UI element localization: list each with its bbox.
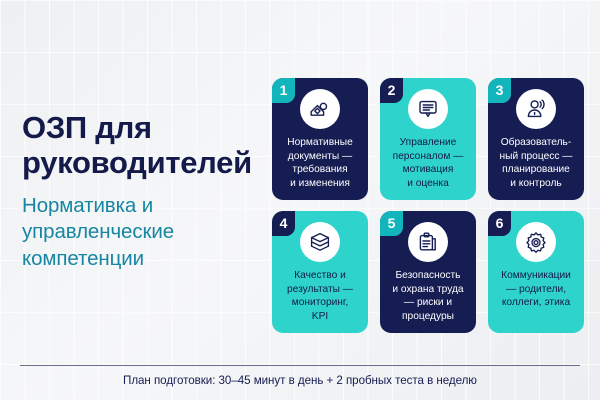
card-label: Образователь- ный процесс — планирование… xyxy=(496,136,577,190)
topic-card-6[interactable]: 6 Коммуникации — родители, коллеги, этик… xyxy=(488,211,584,333)
page-title: ОЗП для руководителей xyxy=(22,110,258,180)
card-label: Нормативные документы — требования и изм… xyxy=(283,136,357,190)
hero-text-block: ОЗП для руководителей Нормативка и управ… xyxy=(22,110,258,272)
topic-card-4[interactable]: 4 Качество и результаты — мониторинг, KP… xyxy=(272,211,368,333)
card-number-badge: 3 xyxy=(488,78,511,103)
card-label: Коммуникации — родители, коллеги, этика xyxy=(497,269,575,310)
topic-card-2[interactable]: 2 Управление персоналом — мотивация и оц… xyxy=(380,78,476,200)
card-number-badge: 2 xyxy=(380,78,403,103)
card-number-badge: 4 xyxy=(272,211,295,236)
card-number-badge: 5 xyxy=(380,211,403,236)
card-number-badge: 1 xyxy=(272,78,295,103)
topic-card-1[interactable]: 1 Нормативные документы — требования и и… xyxy=(272,78,368,200)
card-label: Безопасность и охрана труда — риски и пр… xyxy=(388,269,467,323)
footer-note: План подготовки: 30–45 минут в день + 2 … xyxy=(0,374,600,387)
footer-divider xyxy=(20,365,580,366)
document-diamond-icon xyxy=(300,89,340,129)
card-number-badge: 6 xyxy=(488,211,511,236)
gear-icon xyxy=(516,222,556,262)
page-subtitle: Нормативка и управленческие компетенции xyxy=(22,193,258,272)
topic-card-grid: 1 Нормативные документы — требования и и… xyxy=(272,78,584,333)
speech-bubble-lines-icon xyxy=(408,89,448,129)
topic-card-5[interactable]: 5 Безопасность и охрана труда — риски и … xyxy=(380,211,476,333)
topic-card-3[interactable]: 3 Образователь- ный процесс — планирован… xyxy=(488,78,584,200)
card-label: Управление персоналом — мотивация и оцен… xyxy=(389,136,468,190)
card-label: Качество и результаты — мониторинг, KPI xyxy=(283,269,357,323)
person-icon xyxy=(516,89,556,129)
clipboard-icon xyxy=(408,222,448,262)
layered-box-icon xyxy=(300,222,340,262)
slide-canvas: ОЗП для руководителей Нормативка и управ… xyxy=(0,0,600,400)
